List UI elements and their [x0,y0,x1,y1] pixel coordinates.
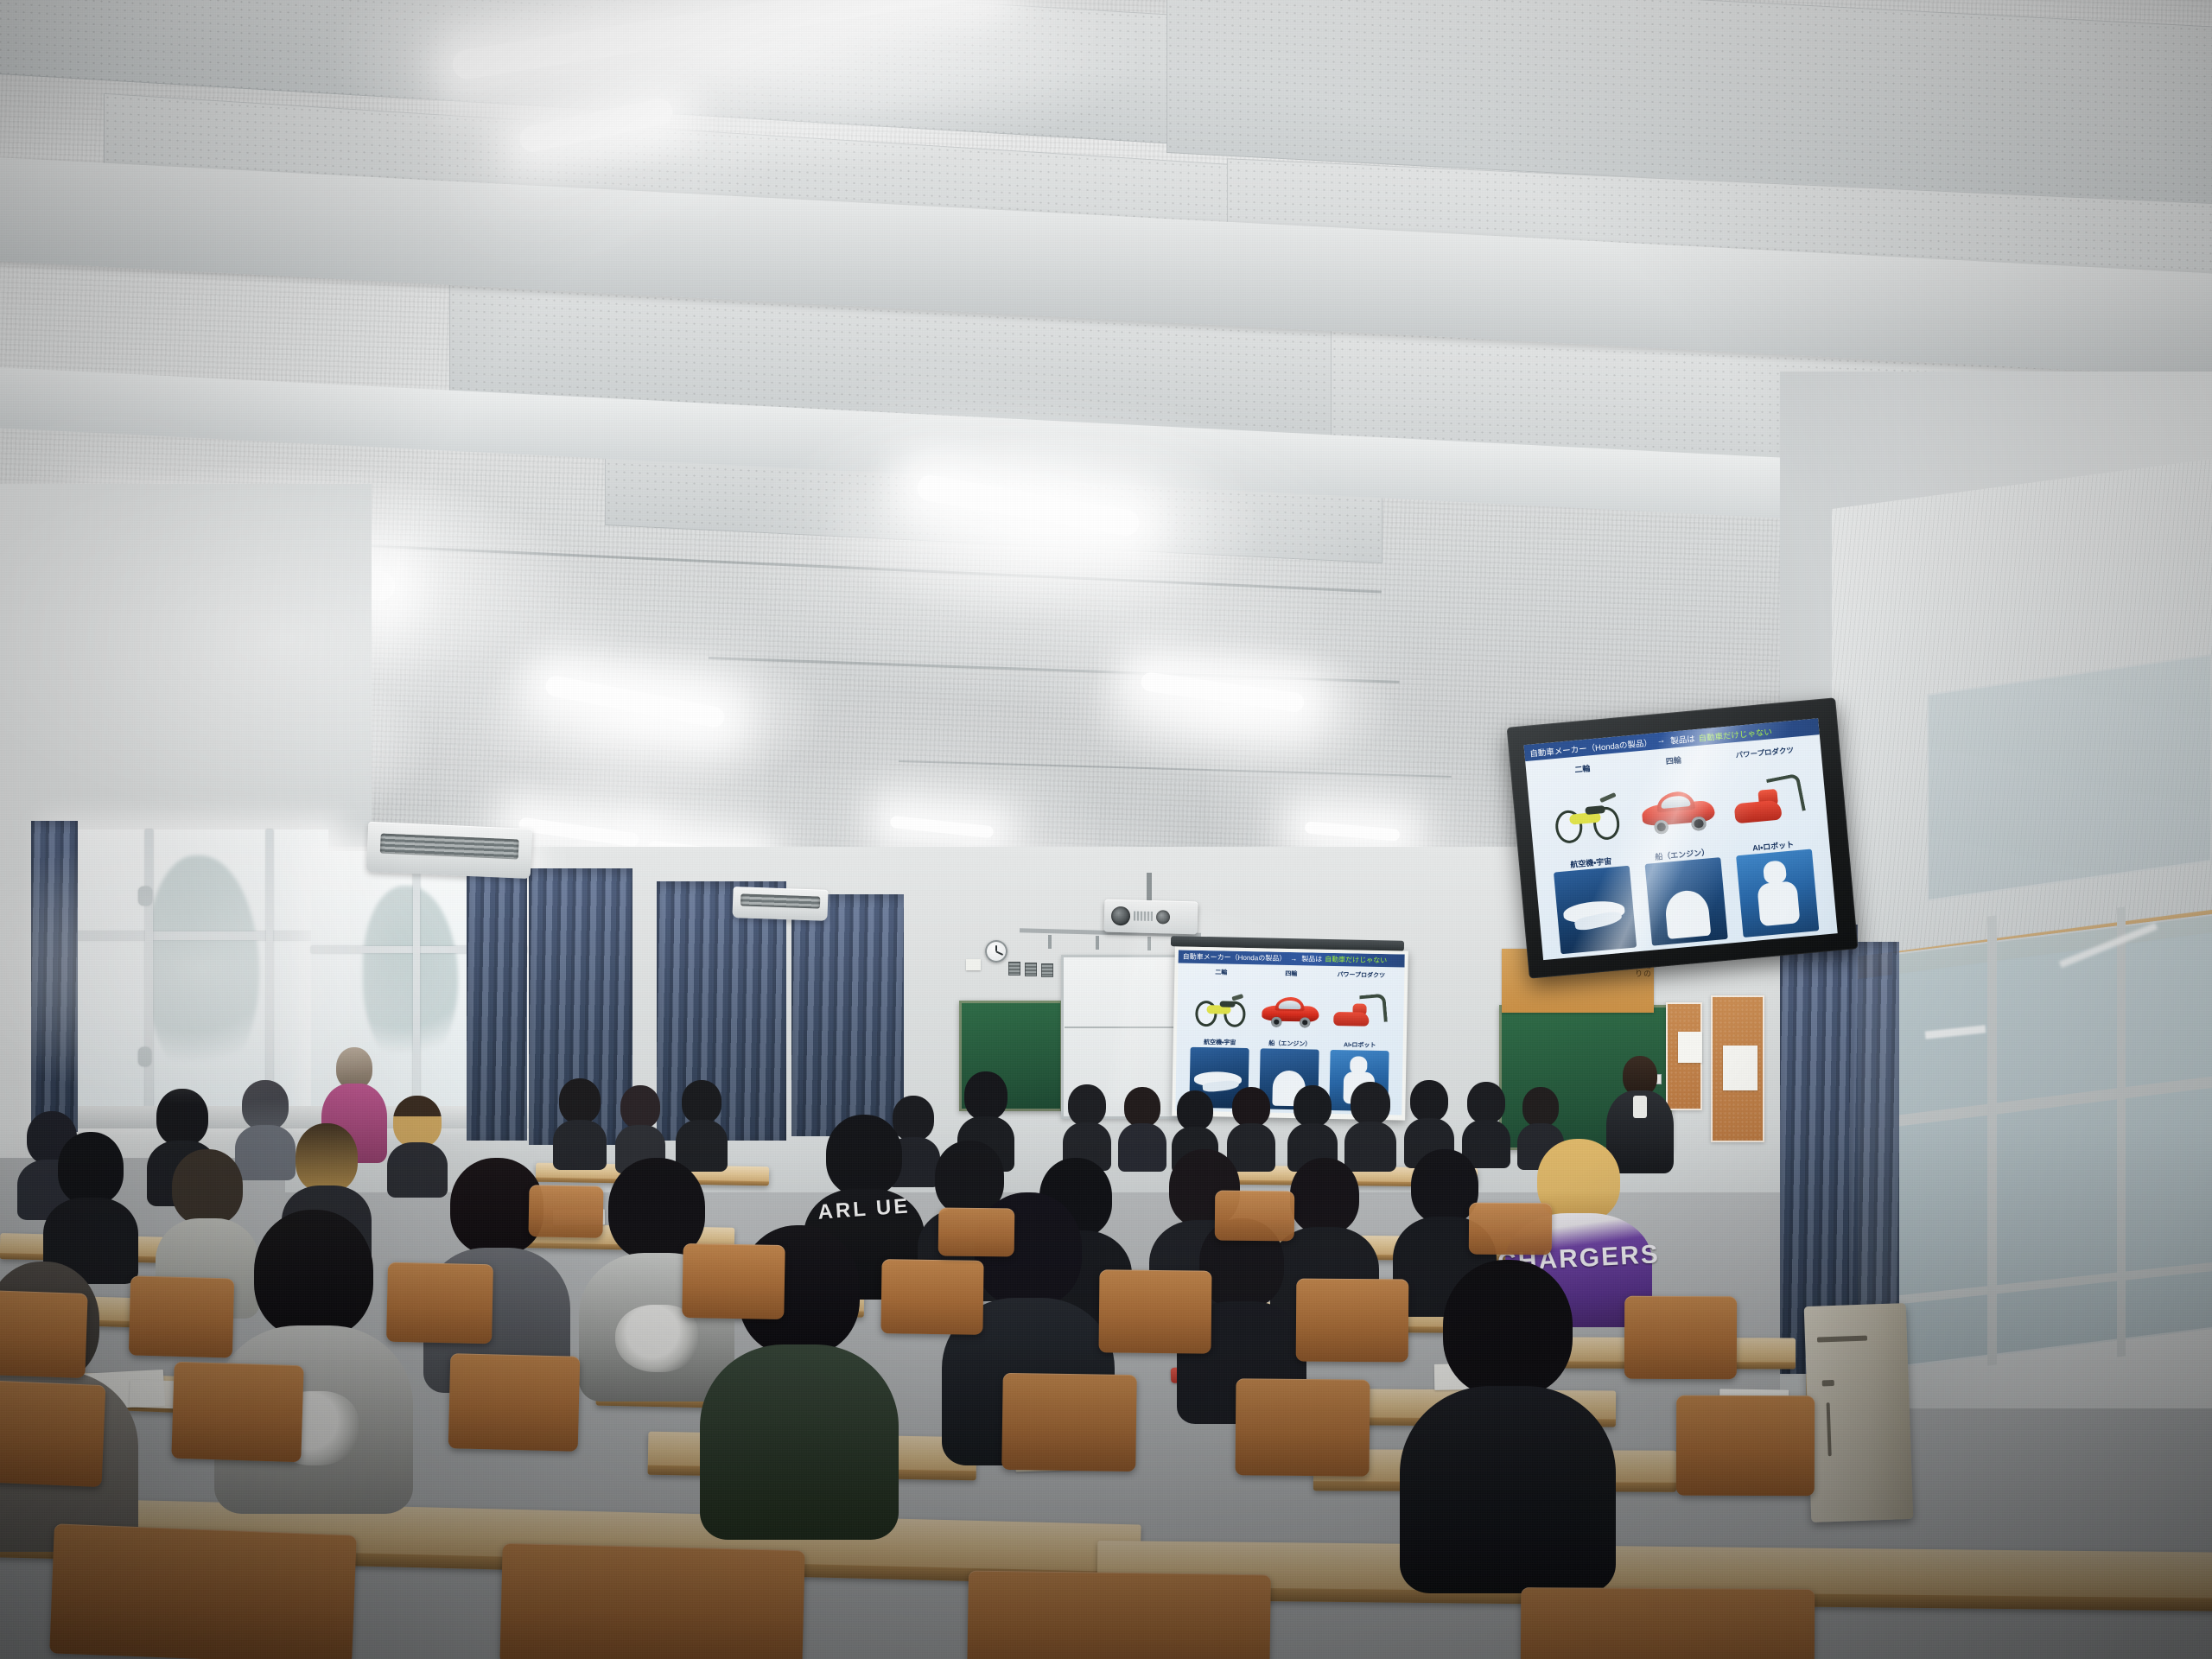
slide-cell-power-products: パワープロダクツ [1325,972,1395,1041]
window-mullion [413,851,420,1110]
car-illustration [1636,764,1719,852]
projector-mount-arm [1147,873,1152,900]
classroom-photo-scene: 進路の しおり 案内 掲示 自動車メーカー（Hondaの製品） → [0,0,2212,1659]
slide-cell-label: パワープロダクツ [1337,972,1385,979]
screen-rail-bracket [1147,937,1151,950]
presenter-shirt [1633,1096,1647,1118]
head [620,1085,660,1128]
slide-title-arrow: → [1290,955,1297,963]
car-wheel [1654,820,1669,835]
tree-outside [363,886,458,1067]
window-mullion [52,931,328,940]
projector-sensor [1156,910,1170,924]
chair-back[interactable] [1624,1296,1737,1379]
torso [1400,1386,1616,1593]
chair-back[interactable] [386,1262,493,1344]
wall-speaker [1041,963,1053,977]
chair-back[interactable] [880,1259,983,1335]
head [1443,1260,1573,1396]
head [1410,1080,1448,1122]
slide-cell-label: 二輪 [1574,765,1591,774]
mower-illustration [1727,755,1811,844]
student [1287,1085,1338,1166]
wall-sign [966,959,981,970]
chair-back[interactable] [1001,1373,1137,1471]
chair-back[interactable] [1236,1378,1370,1476]
slide-title-bar: 自動車メーカー（Hondaの製品） → 製品は 自動車だけじゃない [1179,950,1405,968]
robot-torso [1757,880,1800,926]
slide-cell-two-wheel: 二輪 [1185,969,1255,1039]
air-conditioner[interactable] [366,822,532,879]
slide-cell-aircraft: 航空機・宇宙 [1547,855,1643,955]
purifier-seam [1827,1402,1832,1456]
chair-back[interactable] [129,1275,234,1357]
interior-glass-partition [1892,913,2212,1369]
student [43,1132,138,1279]
robot-photo-frame [1736,849,1820,938]
cork-bulletin-board [1711,995,1764,1142]
head [682,1080,721,1123]
slide-title-main: 自動車メーカー（Hondaの製品） [1183,952,1287,963]
chair-back[interactable] [171,1362,303,1463]
wall-speaker [1008,962,1020,976]
chair-back-foreground[interactable] [499,1543,804,1659]
chair-back[interactable] [938,1207,1015,1256]
chair-back[interactable] [1296,1279,1409,1363]
window-curtain[interactable] [31,821,78,1132]
slide-cell-label: AI・ロボット [1344,1042,1376,1049]
screen-rail-bracket [1048,935,1052,949]
student [615,1085,665,1168]
power-mower-art [1732,773,1806,829]
purifier-control[interactable] [1822,1380,1834,1386]
air-conditioner[interactable] [732,887,828,921]
chair-back[interactable] [448,1353,581,1452]
head [1177,1090,1213,1130]
slide-cell-power-products: パワープロダクツ [1720,745,1817,844]
head [296,1123,358,1192]
engine-cowl [1664,888,1711,939]
chair-back[interactable] [1099,1269,1212,1353]
slide-cell-four-wheel: 四輪 [1255,971,1325,1040]
wall-mounted-tv[interactable]: 自動車メーカー（Hondaの製品） → 製品は 自動車だけじゃない 二輪 [1507,697,1859,978]
student [1344,1082,1396,1166]
head [559,1078,601,1123]
red-sports-car-art [1640,788,1717,834]
ac-vent [380,833,518,859]
car-wheel [1271,1017,1282,1027]
slide-cell-label: 四輪 [1285,971,1297,978]
ac-vent [741,893,821,909]
window-mullion [266,829,273,1115]
head [393,1096,442,1147]
screen-rail-bracket [1096,936,1099,950]
motorcycle-illustration [1545,772,1629,861]
slide-cell-marine-engine: 船（エンジン） [1637,847,1734,946]
air-purifier[interactable] [1804,1303,1914,1522]
head [1232,1087,1270,1127]
head [336,1047,372,1089]
aircraft-photo-frame [1554,866,1637,954]
head [58,1132,124,1205]
slide-title-arrow: → [1656,735,1665,746]
slide-title-main: 自動車メーカー（Hondaの製品） [1529,735,1653,759]
mower-illustration [1331,980,1390,1041]
robot-photo [1736,849,1820,938]
head [964,1071,1007,1120]
chair-back-foreground[interactable] [49,1523,357,1659]
slide-title-tail: 製品は [1301,954,1322,963]
chair-back[interactable] [1469,1203,1552,1255]
window-handle[interactable] [138,887,152,906]
slide-cell-label: 二輪 [1215,970,1227,977]
purifier-vent [1817,1336,1867,1343]
chair-back[interactable] [1676,1395,1815,1497]
mower-deck [1333,1012,1370,1027]
slide-cell-ai-robot: AI・ロボット [1729,839,1826,938]
wall-speaker [1025,963,1037,976]
window-curtain[interactable] [467,855,527,1141]
left-window [52,829,328,1115]
robot-head [1350,1057,1368,1074]
motorcycle-illustration [1191,977,1250,1039]
motorcycle-handlebar [1599,792,1616,803]
head [254,1210,373,1338]
torso [700,1344,899,1540]
motorcycle-seat [1219,1001,1235,1007]
chair-back[interactable] [0,1290,88,1378]
motorcycle-wheel [1195,1001,1217,1027]
chair-back[interactable] [1215,1191,1295,1242]
wall-clock [985,940,1007,963]
chair-back-foreground[interactable] [1521,1587,1815,1659]
aircraft-photo [1554,866,1637,954]
mower-deck [1734,800,1783,824]
head [156,1089,208,1146]
slide-cell-label: 航空機・宇宙 [1204,1039,1236,1046]
motorcycle-art [1194,991,1247,1028]
slide-content-grid: 二輪 四輪 [1538,745,1826,955]
slide-title-highlight: 自動車だけじゃない [1698,725,1772,744]
student [553,1078,607,1165]
slide-cell-four-wheel: 四輪 [1629,753,1726,853]
pinned-paper [1723,1046,1758,1090]
head [1522,1087,1559,1127]
window-mullion [145,829,153,1115]
clock-hand-minute [995,950,1003,955]
chair-back[interactable] [528,1185,603,1237]
presentation-slide-tv: 自動車メーカー（Hondaの製品） → 製品は 自動車だけじゃない 二輪 [1523,718,1837,960]
projector-lens [1111,906,1131,926]
chair-back-foreground[interactable] [967,1571,1271,1659]
head [1294,1085,1332,1127]
car-illustration [1261,979,1320,1040]
motorcycle-art [1551,791,1623,846]
slide-cell-label: 四輪 [1665,757,1681,766]
slide-cell-label: 船（エンジン） [1268,1041,1311,1048]
head [1068,1084,1106,1126]
head [1124,1087,1160,1127]
slide-cell-two-wheel: 二輪 [1538,762,1635,861]
whiteboard-seam [1065,1027,1179,1028]
head [826,1115,902,1196]
window-curtain[interactable] [1849,942,1899,1357]
motorcycle-handlebar [1231,994,1243,1001]
car-window [1278,1001,1300,1010]
car-wheel [1300,1018,1311,1028]
chair-back[interactable] [0,1380,105,1487]
window-handle[interactable] [138,1047,151,1066]
upper-right-window [1927,654,2212,901]
power-mower-art [1333,994,1388,1031]
student-foreground [1400,1260,1616,1580]
tree-outside [147,855,259,1080]
marine-engine-photo [1644,858,1728,946]
student [676,1080,728,1166]
pinned-paper [1678,1032,1702,1063]
projector-vent [1134,911,1153,921]
partition-mullion-vertical [1987,915,1997,1365]
engine-photo-frame [1644,858,1728,946]
head [1351,1082,1390,1125]
red-sports-car-art [1262,997,1319,1027]
car-wheel [1691,817,1706,831]
partition-mullion-vertical [2117,906,2126,1357]
chair-back[interactable] [682,1243,785,1319]
student [1063,1084,1111,1166]
ceiling-projector[interactable] [1104,899,1198,935]
slide-title-tail: 製品は [1670,732,1696,747]
slide-title-highlight: 自動車だけじゃない [1325,955,1387,965]
head [1467,1082,1505,1123]
